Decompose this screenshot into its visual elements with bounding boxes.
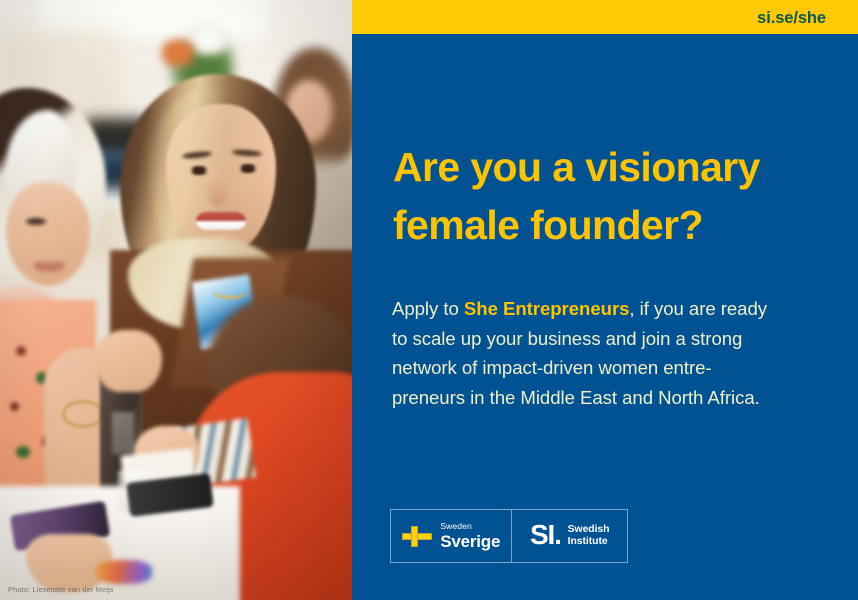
body-line-1-pre: Apply to <box>392 298 464 319</box>
body-copy: Apply to She Entrepreneurs, if you are r… <box>392 294 842 412</box>
swedish-institute-logo: SI. Swedish Institute <box>511 510 627 562</box>
si-label-line-1: Swedish <box>568 524 610 536</box>
sweden-label-sv: Sverige <box>440 533 500 550</box>
swedish-flag-cross-icon <box>402 526 432 547</box>
body-line-4: preneurs in the Middle East and North Af… <box>392 383 842 413</box>
page-title: Are you a visionary female founder? <box>393 138 843 254</box>
photo-vignette <box>0 0 352 600</box>
headline-line-2: female founder? <box>393 196 843 254</box>
logo-lockup: Sweden Sverige SI. Swedish Institute <box>390 509 628 563</box>
program-name: She Entrepreneurs <box>464 298 630 319</box>
top-yellow-bar: si.se/she <box>352 0 858 34</box>
si-label-line-2: Institute <box>568 536 610 548</box>
site-url[interactable]: si.se/she <box>757 9 826 28</box>
sweden-label-en: Sweden <box>440 522 500 531</box>
body-line-1: Apply to She Entrepreneurs, if you are r… <box>392 294 842 324</box>
si-monogram-icon: SI. <box>530 521 561 549</box>
sweden-logo: Sweden Sverige <box>391 510 511 562</box>
body-line-3: network of impact-driven women entre- <box>392 353 842 383</box>
sweden-logo-wordmark: Sweden Sverige <box>440 522 500 550</box>
hero-photo: Photo: Lieselotte van der Meijs <box>0 0 352 600</box>
photo-credit: Photo: Lieselotte van der Meijs <box>8 585 114 594</box>
poster: Photo: Lieselotte van der Meijs si.se/sh… <box>0 0 858 600</box>
body-line-2: to scale up your business and join a str… <box>392 324 842 354</box>
headline-line-1: Are you a visionary <box>393 138 843 196</box>
body-line-1-post: , if you are ready <box>629 298 767 319</box>
swedish-institute-wordmark: Swedish Institute <box>568 524 610 549</box>
